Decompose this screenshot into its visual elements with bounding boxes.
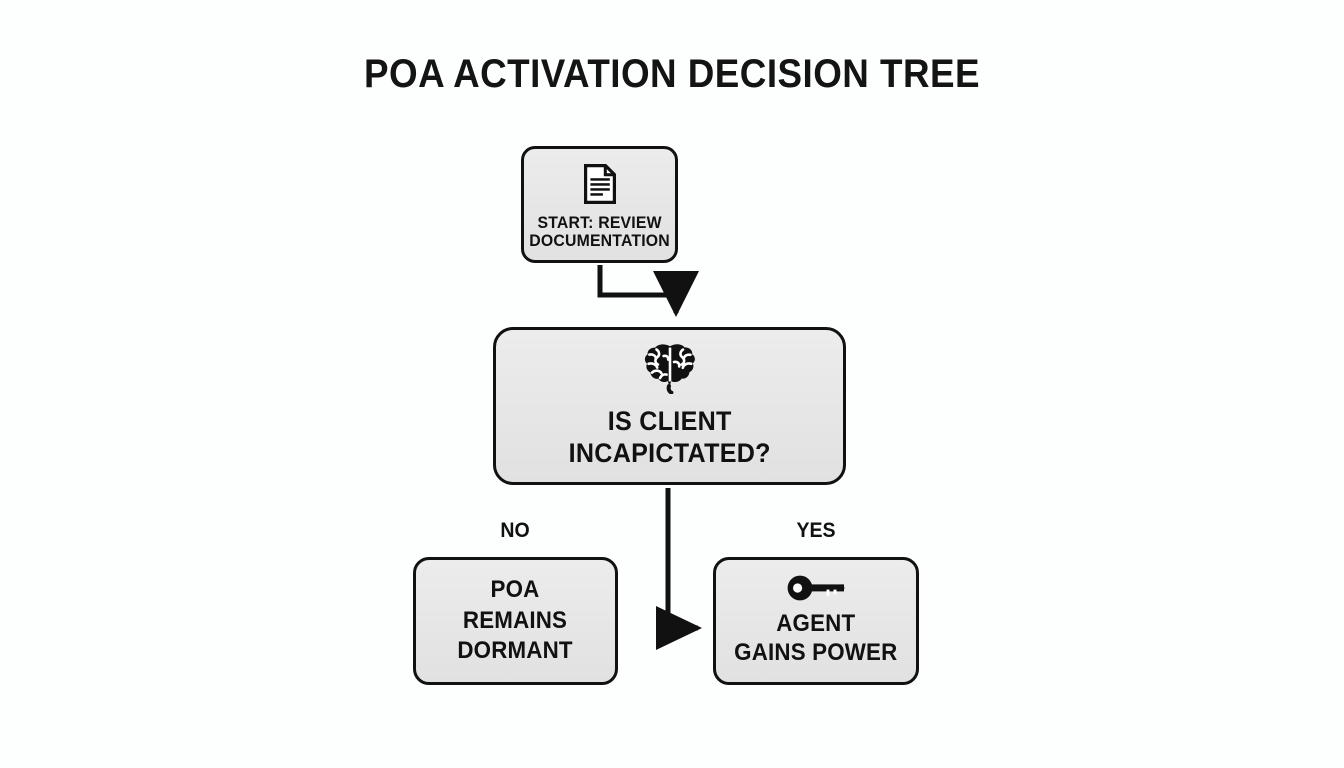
document-icon [583,163,617,205]
node-start-label: START: REVIEW DOCUMENTATION [529,214,670,250]
edge-start-to-decision [600,265,676,313]
node-outcome-yes-label: AGENT GAINS POWER [734,609,897,668]
page-title: POA ACTIVATION DECISION TREE [54,52,1290,97]
node-outcome-poa-remains-dormant[interactable]: POA REMAINS DORMANT [413,557,618,685]
node-decision-is-client-incapacitated[interactable]: IS CLIENT INCAPICTATED? [493,327,846,485]
branch-label-yes: YES [774,519,858,543]
edge-decision-to-outcome-yes [668,488,698,628]
node-outcome-agent-gains-power[interactable]: AGENT GAINS POWER [713,557,919,685]
key-icon [786,575,846,601]
brain-icon [643,342,697,394]
node-start-review-documentation[interactable]: START: REVIEW DOCUMENTATION [521,146,678,263]
branch-label-no: NO [473,519,557,543]
node-decision-label: IS CLIENT INCAPICTATED? [568,406,770,470]
flowchart-canvas: POA ACTIVATION DECISION TREE [0,0,1344,768]
node-outcome-no-label: POA REMAINS DORMANT [458,575,573,667]
